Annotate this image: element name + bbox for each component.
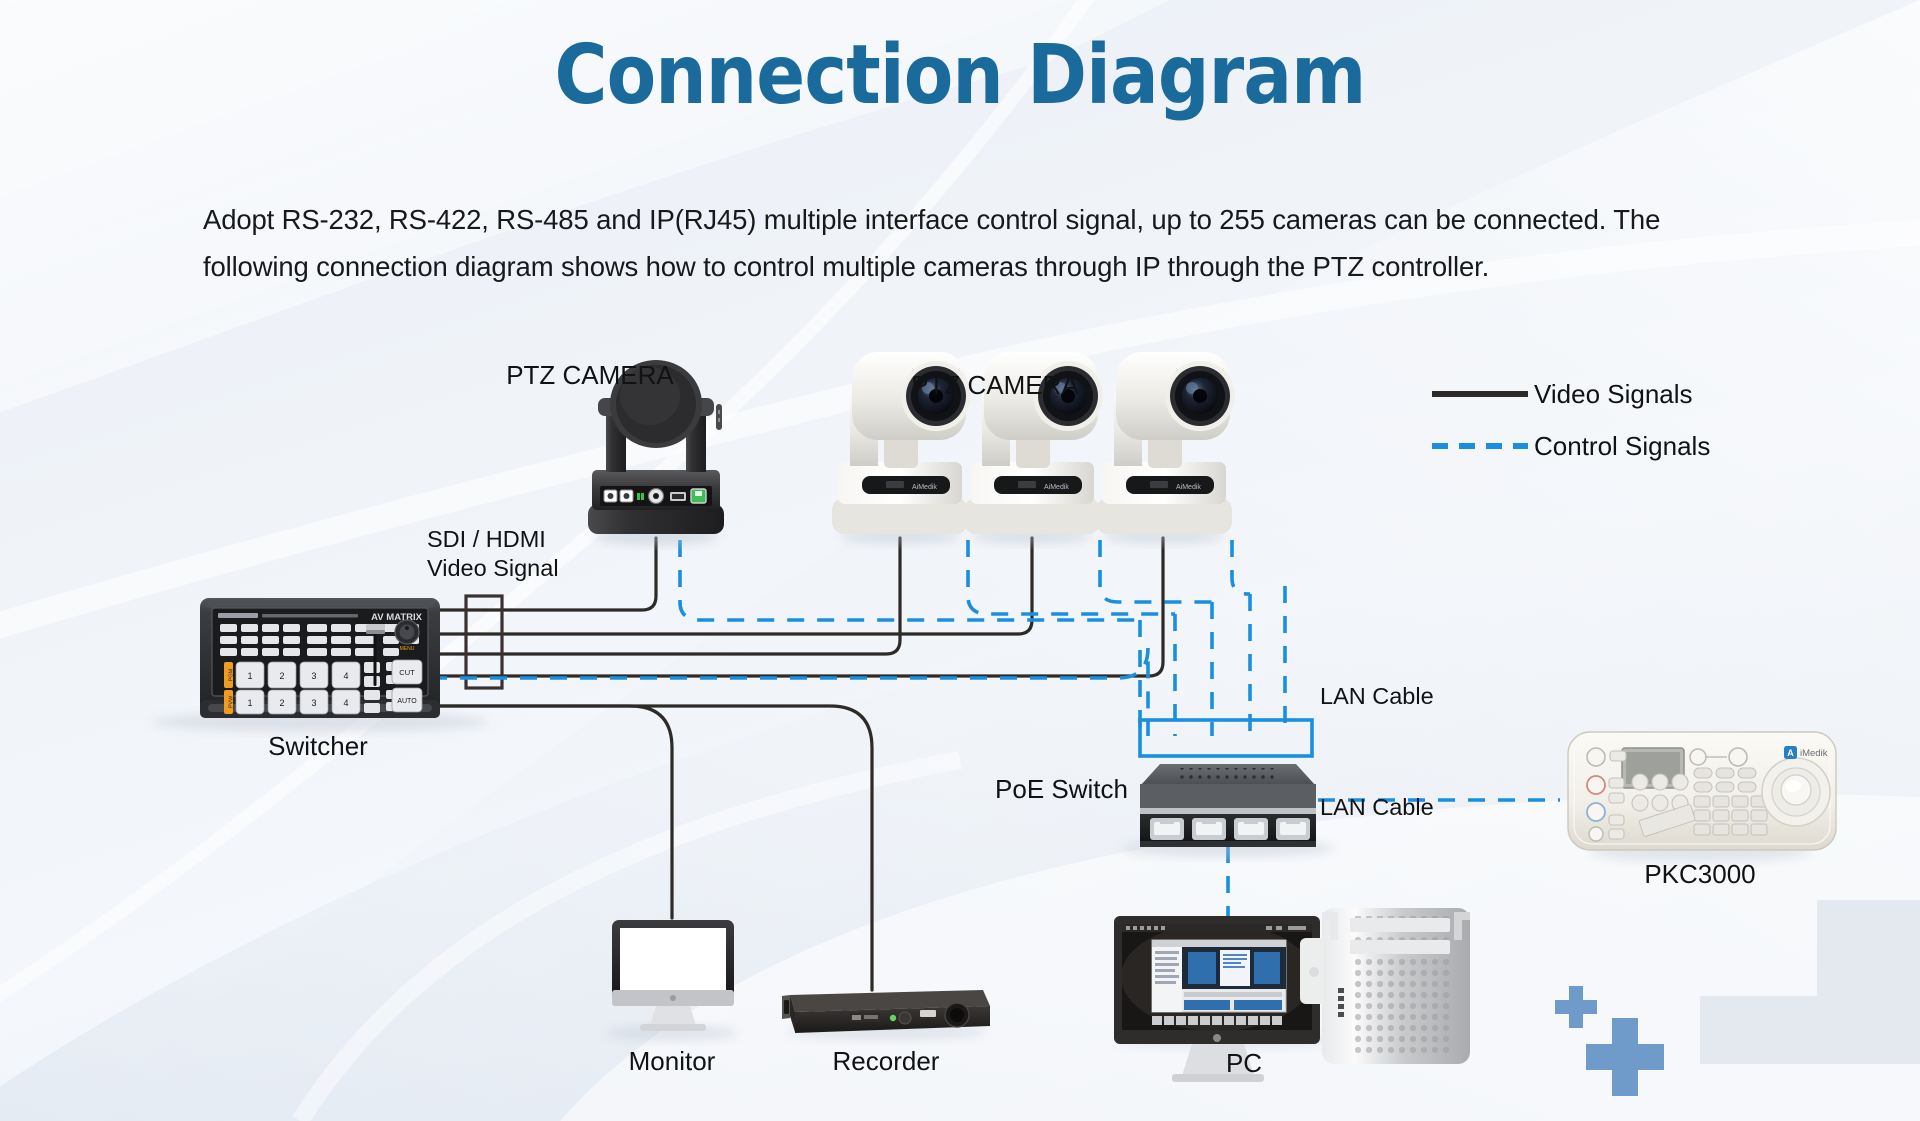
- sdi-hdmi-label-line2: Video Signal: [427, 555, 559, 581]
- legend: Video Signals Control Signals: [1432, 379, 1710, 461]
- pvw-button-4[interactable]: 4: [343, 698, 348, 708]
- pkc3000-controller[interactable]: A iMedik: [1568, 732, 1836, 862]
- pvw-button-3[interactable]: 3: [311, 698, 316, 708]
- decorative-cross-small: [1555, 986, 1597, 1028]
- lan-cable-label-bottom: LAN Cable: [1320, 794, 1434, 820]
- recorder-label: Recorder: [833, 1046, 940, 1076]
- pgm-row-label: PGM: [229, 668, 235, 681]
- auto-button[interactable]: AUTO: [397, 698, 417, 705]
- pvw-row-label: PVW: [229, 695, 235, 708]
- video-signal-cables: [430, 538, 1163, 990]
- pc[interactable]: [1114, 908, 1470, 1082]
- recorder[interactable]: [782, 990, 990, 1040]
- pgm-button-2[interactable]: 2: [279, 671, 284, 681]
- ptz-camera-white-3[interactable]: AiMedik: [1096, 352, 1235, 544]
- lan-bus-rectangle: [1140, 720, 1312, 756]
- lan-cable-label-top: LAN Cable: [1320, 683, 1434, 709]
- switcher-brand: AV MATRIX: [371, 612, 423, 623]
- poe-switch-label: PoE Switch: [995, 774, 1128, 804]
- ptz-camera-2-label: PTZ CAMERA: [911, 370, 1079, 400]
- monitor-label: Monitor: [629, 1046, 716, 1076]
- legend-item-control-signals: Control Signals: [1432, 431, 1710, 461]
- svg-text:AiMedik: AiMedik: [1176, 484, 1201, 491]
- connection-diagram: PTZ CAMERA AiMedik: [0, 0, 1920, 1121]
- svg-text:A: A: [1787, 748, 1794, 758]
- pgm-button-4[interactable]: 4: [343, 671, 348, 681]
- ptz-camera-1-label: PTZ CAMERA: [506, 360, 674, 390]
- pc-label: PC: [1226, 1048, 1262, 1078]
- controller-joystick[interactable]: [1762, 758, 1830, 826]
- pc-display[interactable]: [1114, 916, 1320, 1082]
- legend-item-video-signals: Video Signals: [1432, 379, 1693, 409]
- menu-knob-label: MENU: [400, 646, 415, 652]
- svg-text:iMedik: iMedik: [1800, 748, 1828, 759]
- poe-switch[interactable]: [1122, 764, 1334, 857]
- sdi-hdmi-label-line1: SDI / HDMI: [427, 526, 546, 552]
- decorative-cross-large: [1586, 1018, 1664, 1096]
- pvw-button-2[interactable]: 2: [279, 698, 284, 708]
- switcher-label: Switcher: [268, 731, 368, 761]
- switcher[interactable]: AV MATRIX: [152, 598, 488, 732]
- pc-tower[interactable]: [1300, 908, 1470, 1064]
- monitor[interactable]: [606, 920, 738, 1041]
- switcher-function-buttons[interactable]: [220, 624, 419, 656]
- cut-button[interactable]: CUT: [399, 668, 415, 677]
- pvw-button-1[interactable]: 1: [247, 698, 252, 708]
- controller-brand-logo: A iMedik: [1784, 746, 1828, 759]
- svg-text:AiMedik: AiMedik: [912, 484, 937, 491]
- pkc3000-label: PKC3000: [1644, 859, 1755, 889]
- svg-text:AiMedik: AiMedik: [1044, 484, 1069, 491]
- control-signal-cables: [430, 540, 1560, 916]
- monitor-screen: [620, 928, 726, 990]
- legend-label-control: Control Signals: [1534, 431, 1710, 461]
- pgm-button-3[interactable]: 3: [311, 671, 316, 681]
- pgm-button-1[interactable]: 1: [247, 671, 252, 681]
- legend-label-video: Video Signals: [1534, 379, 1693, 409]
